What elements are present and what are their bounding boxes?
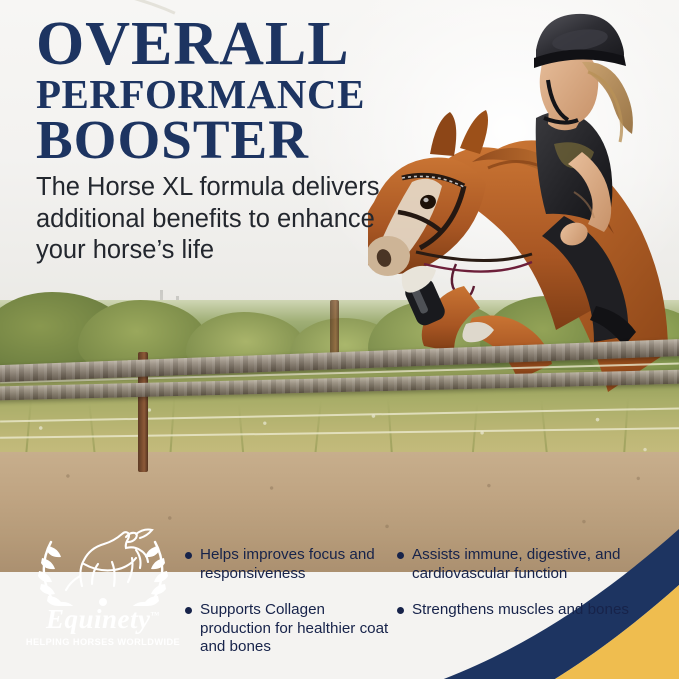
logo-tagline: HELPING HORSES WORLDWIDE [18,637,188,647]
benefits-list: Helps improves focus and responsiveness … [185,546,671,657]
fence-post [330,300,339,360]
bullet-dot-icon [185,607,192,614]
list-item: Helps improves focus and responsiveness [185,546,397,583]
logo-name-text: Equinety [46,604,151,634]
benefit-text: Helps improves focus and responsiveness [200,546,397,583]
benefit-text: Assists immune, digestive, and cardiovas… [412,546,671,583]
bullet-dot-icon [185,552,192,559]
list-item: Assists immune, digestive, and cardiovas… [397,546,671,583]
bullet-dot-icon [397,607,404,614]
logo-trademark: ™ [151,610,161,620]
headline-line-1: OVERALL [36,16,416,73]
logo-wordmark: Equinety™ [18,604,188,635]
equinety-logo: Equinety™ HELPING HORSES WORLDWIDE [18,528,188,648]
bullet-dot-icon [397,552,404,559]
benefit-text: Supports Collagen production for healthi… [200,601,397,657]
benefit-text: Strengthens muscles and bones [412,601,629,620]
promotional-banner: OVERALL PERFORMANCE BOOSTER The Horse XL… [0,0,679,679]
horse-laurel-wreath-icon [18,528,188,606]
headline-line-3: BOOSTER [36,115,416,166]
page-title: OVERALL PERFORMANCE BOOSTER [36,16,416,165]
subheading-text: The Horse XL formula delivers additional… [36,172,396,267]
list-item: Supports Collagen production for healthi… [185,601,397,657]
list-item: Strengthens muscles and bones [397,601,671,657]
